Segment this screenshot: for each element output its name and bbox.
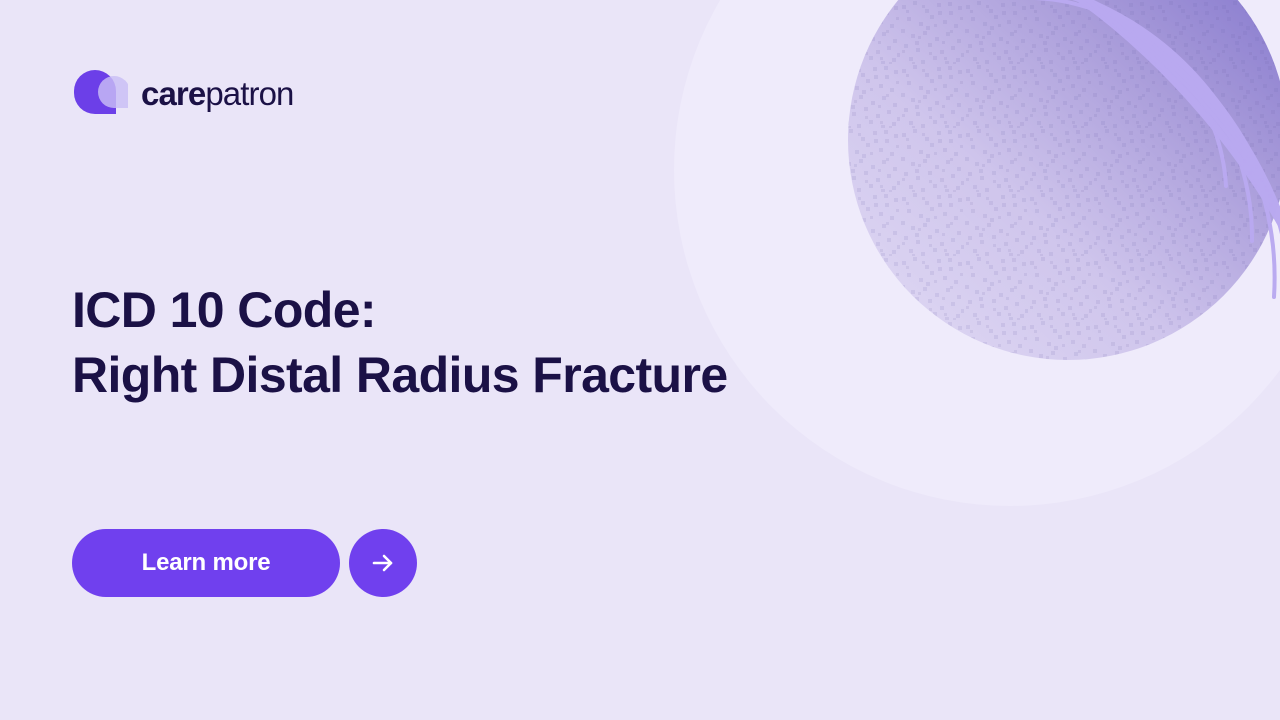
carepatron-logo[interactable]: carepatron: [72, 66, 293, 118]
carepatron-wordmark: carepatron: [141, 77, 293, 110]
headline-line-1: ICD 10 Code:: [72, 278, 792, 343]
arrow-right-icon: [368, 548, 398, 578]
wordmark-care: care: [141, 75, 205, 112]
concentric-arcs: [775, 0, 1280, 720]
headline-line-2: Right Distal Radius Fracture: [72, 343, 792, 408]
pale-backdrop-circle: [674, 0, 1280, 506]
gradient-circle: [848, 0, 1280, 360]
promo-banner: carepatron ICD 10 Code: Right Distal Rad…: [0, 0, 1280, 720]
page-title: ICD 10 Code: Right Distal Radius Fractur…: [72, 278, 792, 407]
cta-group: Learn more: [72, 529, 417, 597]
arrow-right-button[interactable]: [349, 529, 417, 597]
wordmark-patron: patron: [205, 75, 293, 112]
carepatron-droplet-logo-icon: [72, 68, 128, 116]
learn-more-button[interactable]: Learn more: [72, 529, 340, 597]
